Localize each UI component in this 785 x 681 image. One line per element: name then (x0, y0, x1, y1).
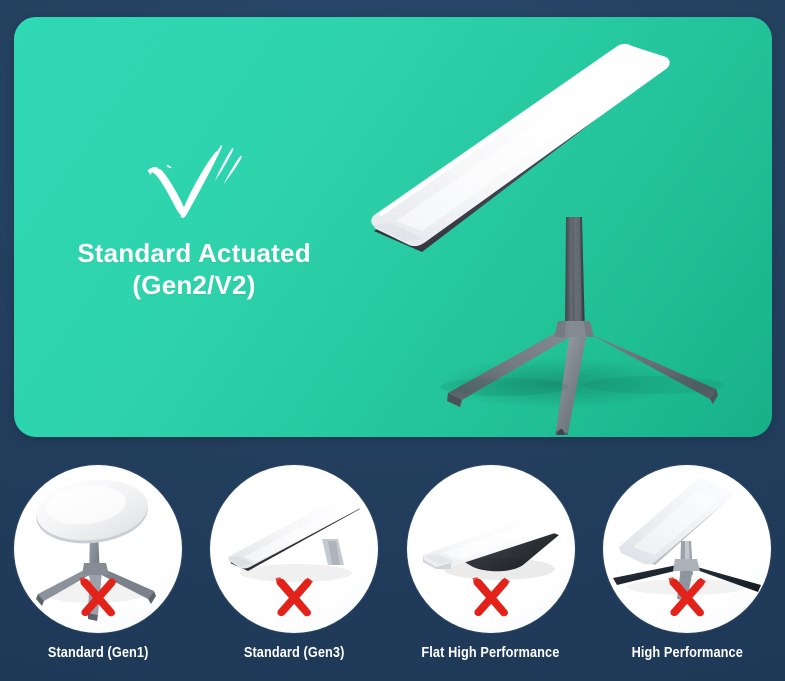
red-x-icon (468, 575, 514, 619)
list-item-label: Flat High Performance (422, 645, 560, 661)
starlink-flat-high-performance-dish-icon (407, 465, 575, 633)
list-item: High Performance (589, 455, 785, 681)
supported-dish-card: Standard Actuated (Gen2/V2) (14, 17, 772, 437)
list-item: Standard (Gen1) (0, 455, 196, 681)
red-x-icon (664, 575, 710, 619)
unsupported-dish-list: Standard (Gen1) (0, 455, 785, 681)
list-item: Flat High Performance (393, 455, 589, 681)
list-item-label: Standard (Gen3) (244, 645, 345, 661)
compatibility-graphic: Standard Actuated (Gen2/V2) (0, 0, 785, 681)
starlink-gen1-round-dish-icon (14, 465, 182, 633)
supported-callout: Standard Actuated (Gen2/V2) (49, 135, 339, 301)
brush-checkmark-icon (49, 135, 339, 232)
starlink-standard-actuated-dish-icon (344, 35, 744, 435)
red-x-icon (75, 575, 121, 619)
list-item-label: Standard (Gen1) (48, 645, 149, 661)
starlink-gen3-kickstand-dish-icon (210, 465, 378, 633)
hero-label: Standard Actuated (Gen2/V2) (49, 238, 339, 301)
list-item: Standard (Gen3) (196, 455, 392, 681)
red-x-icon (271, 575, 317, 619)
list-item-label: High Performance (631, 645, 742, 661)
starlink-high-performance-dish-icon (603, 465, 771, 633)
